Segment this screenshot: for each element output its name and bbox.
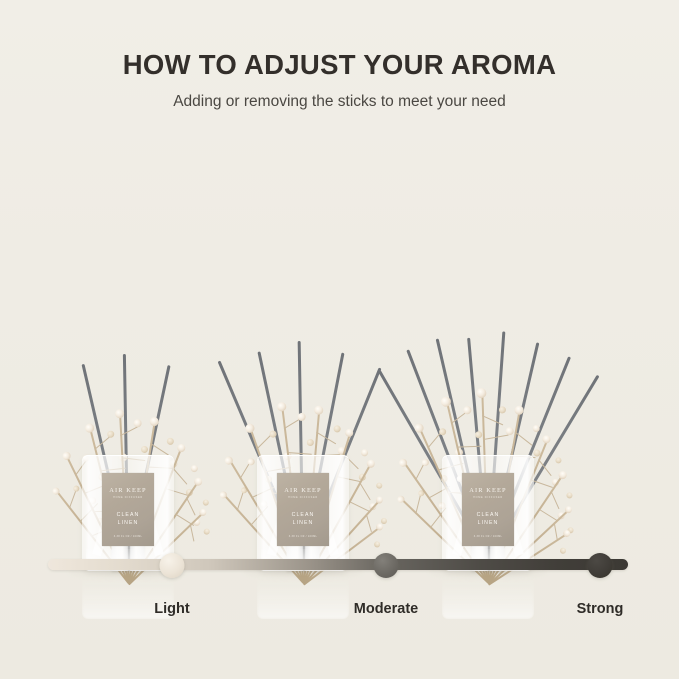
slider-knob-light[interactable] <box>160 553 185 578</box>
slider-label-strong: Strong <box>577 601 624 617</box>
diffuser-bottle: AIR KEEP AIR KEEP HOME DIFFUSER CLEAN LI… <box>442 455 534 571</box>
page-title: HOW TO ADJUST YOUR AROMA <box>0 49 679 81</box>
diffuser-bottle: AIR KEEP AIR KEEP HOME DIFFUSER CLEAN LI… <box>82 455 174 571</box>
slider-knob-strong[interactable] <box>588 553 613 578</box>
slider-label-moderate: Moderate <box>354 601 418 617</box>
slider-label-light: Light <box>154 601 189 617</box>
volume-text: 3.38 FL OZ / 100ML <box>102 535 154 538</box>
intensity-slider[interactable] <box>48 555 628 573</box>
scent-name: CLEAN LINEN <box>117 511 140 527</box>
bottle-body: AIR KEEP AIR KEEP HOME DIFFUSER CLEAN LI… <box>442 455 534 571</box>
brand-name: AIR KEEP <box>109 487 146 494</box>
promo-graphic: HOW TO ADJUST YOUR AROMA Adding or remov… <box>0 0 679 679</box>
volume-text: 3.38 FL OZ / 100ML <box>277 535 329 538</box>
bottle-body: AIR KEEP AIR KEEP HOME DIFFUSER CLEAN LI… <box>257 455 349 571</box>
brand-name: AIR KEEP <box>284 487 321 494</box>
bottle-label: AIR KEEP HOME DIFFUSER CLEAN LINEN 3.38 … <box>102 473 154 546</box>
brand-subtitle: HOME DIFFUSER <box>113 496 143 499</box>
scent-name: CLEAN LINEN <box>292 511 315 527</box>
diffuser-bottle: AIR KEEP AIR KEEP HOME DIFFUSER CLEAN LI… <box>257 455 349 571</box>
bottle-body: AIR KEEP AIR KEEP HOME DIFFUSER CLEAN LI… <box>82 455 174 571</box>
brand-name: AIR KEEP <box>469 487 506 494</box>
brand-subtitle: HOME DIFFUSER <box>473 496 503 499</box>
volume-text: 3.38 FL OZ / 100ML <box>462 535 514 538</box>
bottle-label: AIR KEEP HOME DIFFUSER CLEAN LINEN 3.38 … <box>462 473 514 546</box>
page-subtitle: Adding or removing the sticks to meet yo… <box>0 93 679 111</box>
brand-subtitle: HOME DIFFUSER <box>288 496 318 499</box>
scent-name: CLEAN LINEN <box>477 511 500 527</box>
slider-track[interactable] <box>48 559 628 570</box>
bottle-label: AIR KEEP HOME DIFFUSER CLEAN LINEN 3.38 … <box>277 473 329 546</box>
slider-knob-moderate[interactable] <box>374 553 399 578</box>
